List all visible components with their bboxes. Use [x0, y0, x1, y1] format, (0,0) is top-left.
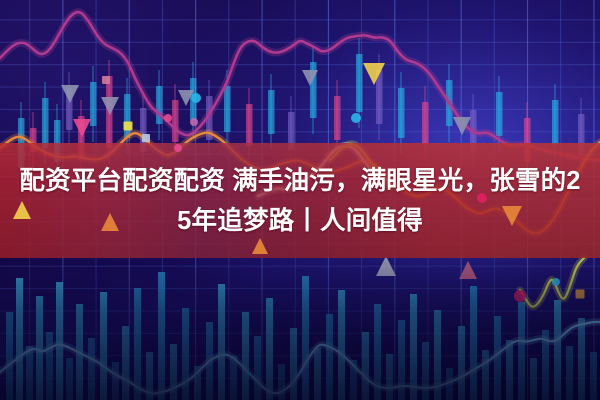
headline-line-1: 配资平台配资配资 满手油污，满眼星光，张雪的2	[19, 161, 580, 201]
banner-image: 配资平台配资配资 满手油污，满眼星光，张雪的2 5年追梦路丨人间值得	[0, 0, 600, 400]
headline-line-2: 5年追梦路丨人间值得	[177, 201, 423, 241]
headline-text: 配资平台配资配资 满手油污，满眼星光，张雪的2 5年追梦路丨人间值得	[0, 150, 600, 251]
